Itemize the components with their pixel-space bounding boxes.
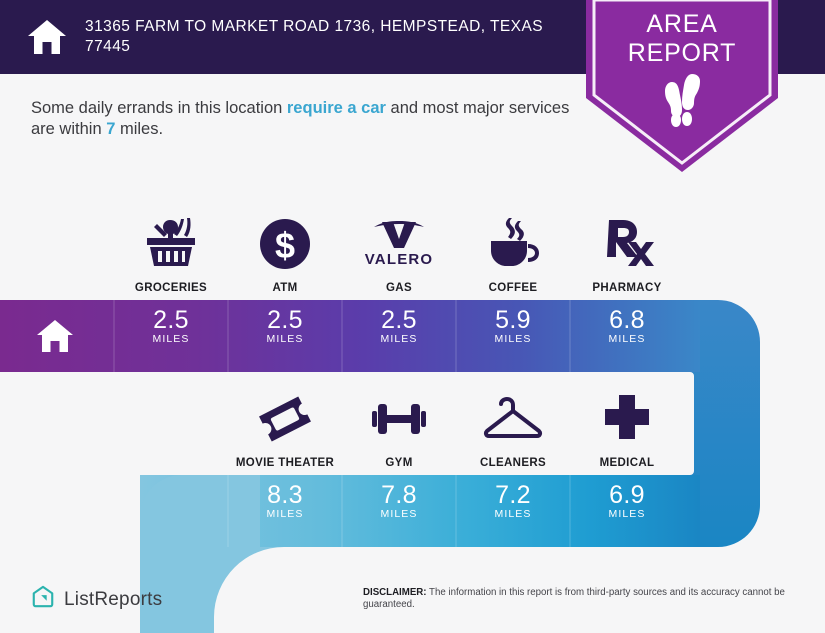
disclaimer-label: DISCLAIMER: bbox=[363, 587, 427, 598]
distance-unit: MILES bbox=[570, 508, 684, 520]
disclaimer-text: The information in this report is from t… bbox=[363, 587, 785, 610]
category-pharmacy[interactable]: PHARMACY bbox=[570, 214, 684, 294]
page-title: 31365 FARM TO MARKET ROAD 1736, HEMPSTEA… bbox=[85, 17, 565, 57]
distance-value: 5.9 bbox=[456, 306, 570, 334]
summary-part-1: Some daily errands in this location bbox=[31, 99, 287, 117]
home-icon bbox=[26, 16, 68, 58]
distance-unit: MILES bbox=[456, 508, 570, 520]
distance-value: 7.2 bbox=[456, 481, 570, 509]
category-label: GAS bbox=[386, 282, 412, 294]
category-label: ATM bbox=[272, 282, 297, 294]
coffee-cup-icon bbox=[483, 214, 543, 270]
distance-unit: MILES bbox=[456, 333, 570, 345]
summary-number: 7 bbox=[106, 120, 115, 138]
distance-value: 6.8 bbox=[570, 306, 684, 334]
dollar-circle-icon: $ bbox=[257, 214, 313, 270]
distance-unit: MILES bbox=[570, 333, 684, 345]
distance-groceries[interactable]: 2.5 MILES bbox=[114, 306, 228, 345]
category-atm[interactable]: $ ATM bbox=[228, 214, 342, 294]
distance-cleaners[interactable]: 7.2 MILES bbox=[456, 481, 570, 520]
distance-value: 6.9 bbox=[570, 481, 684, 509]
distance-unit: MILES bbox=[342, 333, 456, 345]
grocery-basket-icon bbox=[141, 214, 201, 270]
distance-unit: MILES bbox=[114, 333, 228, 345]
distance-track bbox=[0, 300, 825, 633]
distance-value: 7.8 bbox=[342, 481, 456, 509]
distance-medical[interactable]: 6.9 MILES bbox=[570, 481, 684, 520]
distance-unit: MILES bbox=[228, 333, 342, 345]
brand-logo[interactable]: ListReports bbox=[31, 585, 162, 614]
primary-icon-row: GROCERIES $ ATM VALERO GAS bbox=[0, 214, 825, 294]
distance-value: 2.5 bbox=[228, 306, 342, 334]
distance-atm[interactable]: 2.5 MILES bbox=[228, 306, 342, 345]
svg-text:$: $ bbox=[275, 225, 295, 266]
area-report-page: 31365 FARM TO MARKET ROAD 1736, HEMPSTEA… bbox=[0, 0, 825, 633]
category-label: GROCERIES bbox=[135, 282, 207, 294]
category-coffee[interactable]: COFFEE bbox=[456, 214, 570, 294]
distance-value: 8.3 bbox=[228, 481, 342, 509]
category-label: PHARMACY bbox=[592, 282, 661, 294]
summary-part-3: miles. bbox=[115, 120, 163, 138]
summary-text: Some daily errands in this location requ… bbox=[31, 98, 571, 140]
distance-movie-theater[interactable]: 8.3 MILES bbox=[228, 481, 342, 520]
rx-prescription-icon bbox=[599, 214, 655, 270]
distance-pharmacy[interactable]: 6.8 MILES bbox=[570, 306, 684, 345]
distance-value: 2.5 bbox=[342, 306, 456, 334]
listreports-logo-icon bbox=[31, 585, 55, 614]
distance-value: 2.5 bbox=[114, 306, 228, 334]
distance-coffee[interactable]: 5.9 MILES bbox=[456, 306, 570, 345]
home-marker-icon bbox=[35, 316, 75, 361]
svg-text:VALERO: VALERO bbox=[365, 251, 434, 268]
brand-name: ListReports bbox=[64, 589, 162, 611]
disclaimer: DISCLAIMER: The information in this repo… bbox=[363, 587, 791, 611]
distance-gym[interactable]: 7.8 MILES bbox=[342, 481, 456, 520]
summary-highlight: require a car bbox=[287, 99, 386, 117]
distance-unit: MILES bbox=[228, 508, 342, 520]
area-report-badge: AREA REPORT bbox=[586, 0, 778, 172]
category-groceries[interactable]: GROCERIES bbox=[114, 214, 228, 294]
category-label: COFFEE bbox=[489, 282, 538, 294]
distance-unit: MILES bbox=[342, 508, 456, 520]
distance-gas[interactable]: 2.5 MILES bbox=[342, 306, 456, 345]
valero-logo-icon: VALERO bbox=[362, 214, 436, 270]
category-gas[interactable]: VALERO GAS bbox=[342, 214, 456, 294]
